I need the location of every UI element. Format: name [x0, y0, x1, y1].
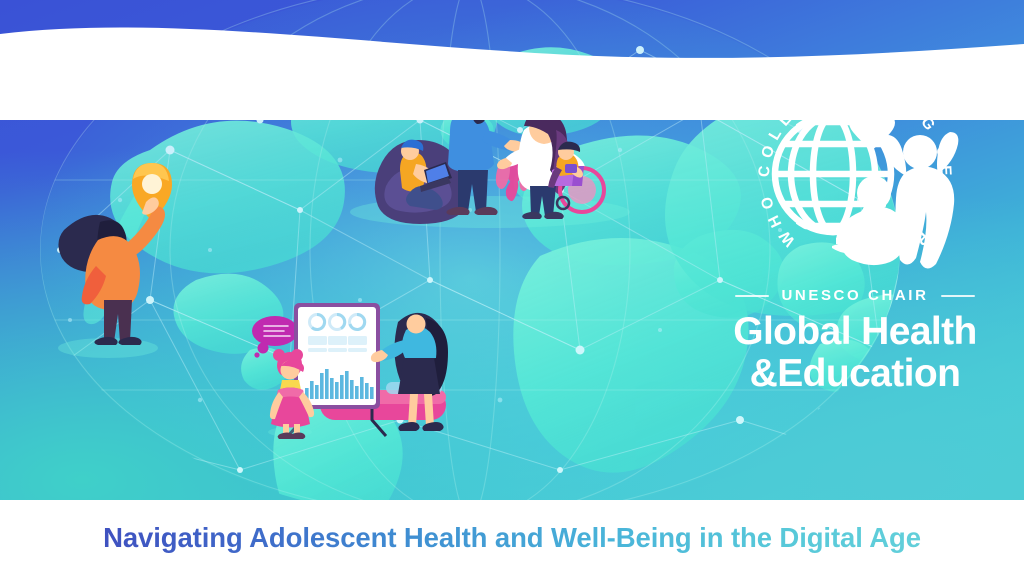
logo-block: WHO COLLABORATING CENTER	[710, 66, 1000, 426]
unesco-chair-row: UNESCO CHAIR	[710, 287, 1000, 304]
illustration-presentation-group	[252, 303, 448, 439]
poster-canvas: WHO COLLABORATING CENTER	[0, 0, 1024, 576]
page-title: Navigating Adolescent Health and Well-Be…	[103, 522, 921, 554]
logo-title-line-2: &Education	[710, 353, 1000, 394]
rule-right	[941, 295, 975, 297]
who-collaborating-center-logo: WHO COLLABORATING CENTER	[720, 66, 990, 281]
rule-left	[735, 295, 769, 297]
unesco-chair-label: UNESCO CHAIR	[781, 287, 928, 304]
placeholder-text-blocks	[308, 336, 367, 352]
logo-title-line-1: Global Health	[710, 311, 1000, 352]
headline-bar: Navigating Adolescent Health and Well-Be…	[0, 500, 1024, 576]
